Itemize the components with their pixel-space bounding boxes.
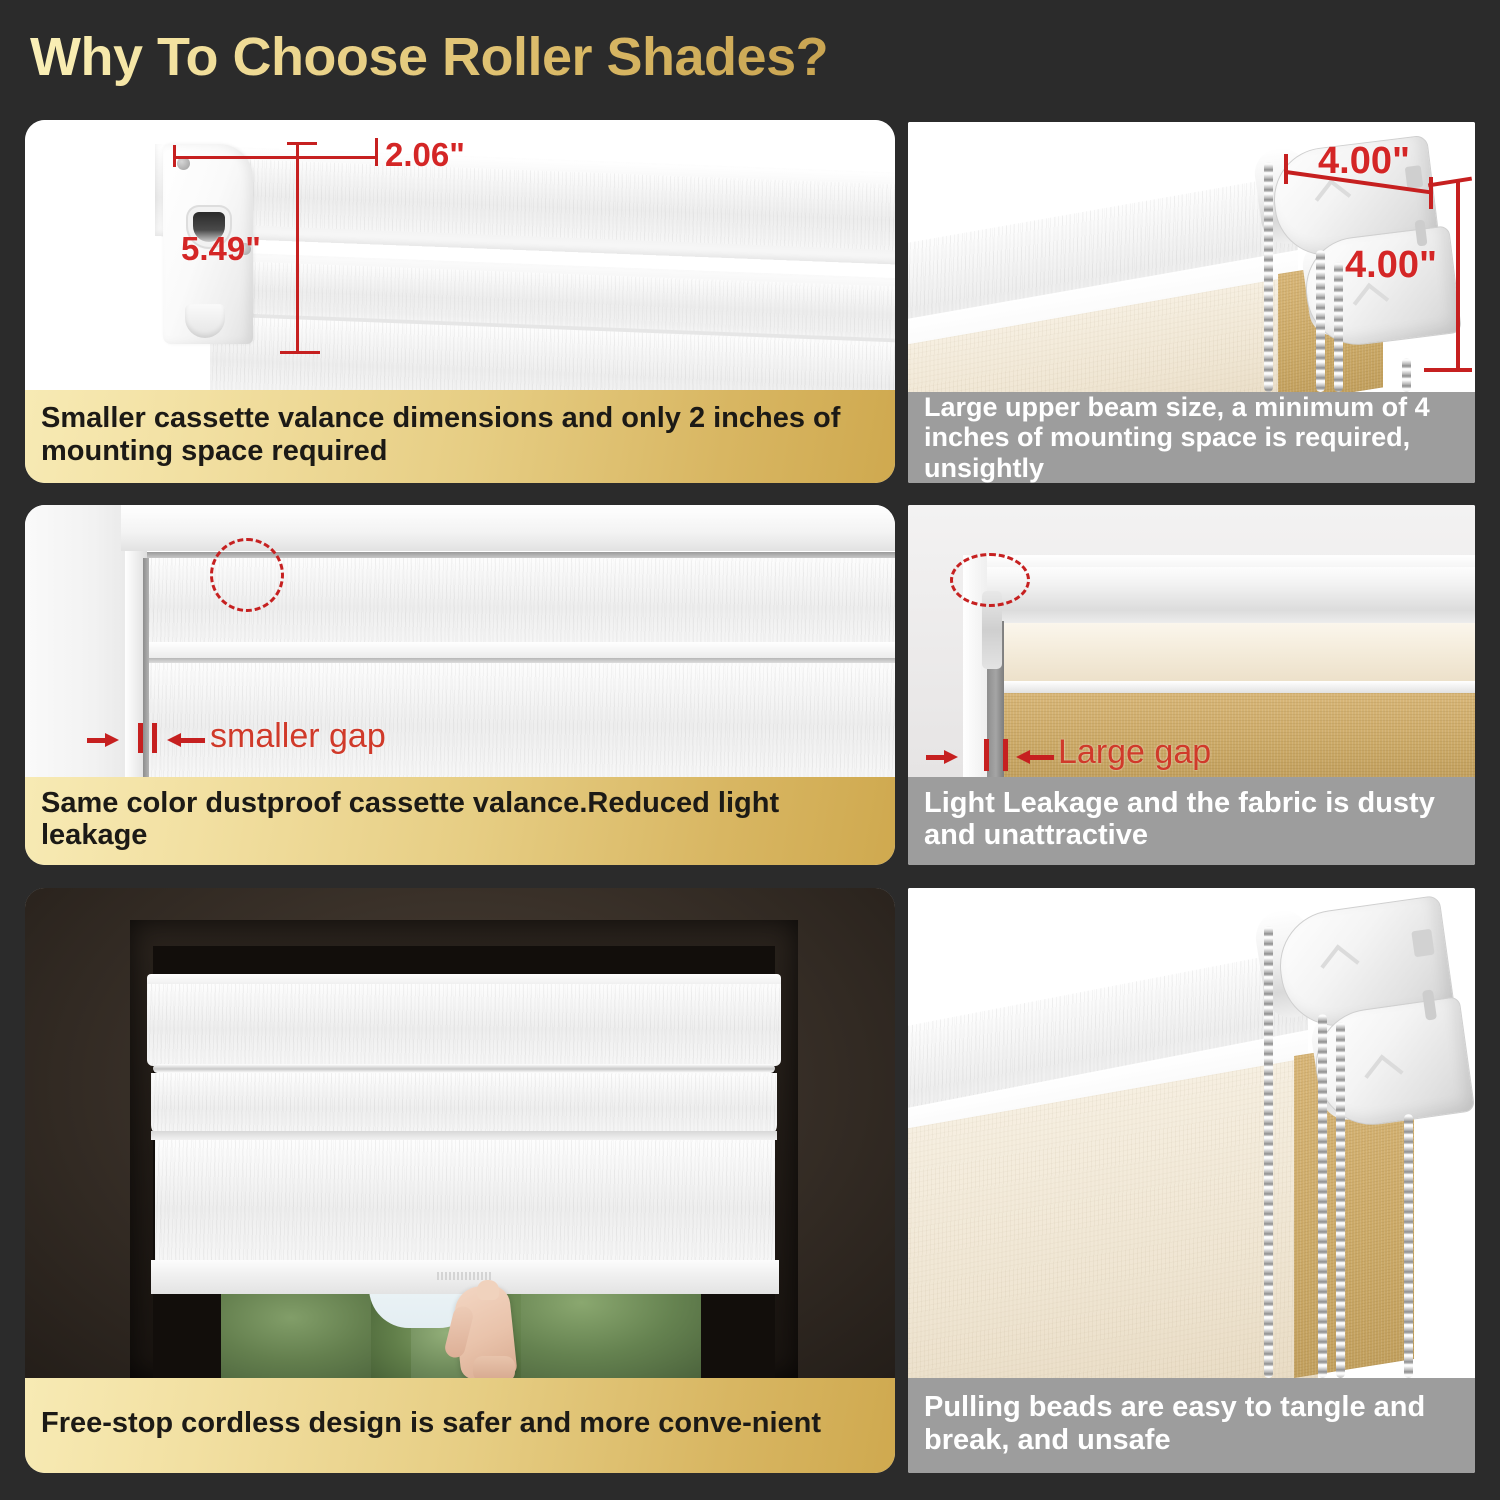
valance-lower-roll <box>151 1073 777 1137</box>
caption-top-left: Smaller cassette valance dimensions and … <box>25 390 895 483</box>
bead-chain-3 <box>1336 1022 1345 1378</box>
gap-highlight-ellipse <box>950 553 1030 607</box>
caption-middle-right-text: Light Leakage and the fabric is dusty an… <box>924 787 1459 852</box>
cassette-valance-front <box>147 984 781 1066</box>
caption-bottom-left-text: Free-stop cordless design is safer and m… <box>41 1407 821 1439</box>
caption-top-left-text: Smaller cassette valance dimensions and … <box>41 402 879 467</box>
gap-arrow-right <box>167 733 181 747</box>
valance-lower-roll-shadow <box>151 1131 777 1140</box>
panel-top-right: 4.00" 4.00" Large upper beam size, a min… <box>908 122 1475 483</box>
bead-chain-front <box>1264 162 1273 392</box>
main-shade-fabric <box>155 1140 775 1265</box>
bead-chain-1 <box>1264 926 1273 1378</box>
bead-chain-tail <box>1402 358 1411 392</box>
panel-middle-right-photo: Large gap <box>908 505 1475 777</box>
bottom-rail-logo <box>437 1272 491 1280</box>
gap-highlight-circle <box>210 538 284 612</box>
height-dimension-tick-top <box>287 142 317 145</box>
bracket-notch-1 <box>1411 929 1434 958</box>
height-dimension-line <box>296 142 299 354</box>
side-gap-dark <box>143 558 149 777</box>
width-dimension-tick-right <box>375 138 378 166</box>
cream-roll <box>996 623 1475 683</box>
large-gap-callout-label: Large gap <box>1058 733 1211 772</box>
bead-chain-4 <box>1404 1114 1413 1378</box>
gap-marker-bar-1 <box>138 723 143 753</box>
beam-height-tick-bottom <box>1424 368 1472 372</box>
width-dimension-label: 2.06" <box>385 136 465 174</box>
bead-chain-2 <box>1318 1014 1327 1378</box>
beam-height-dimension-line <box>1456 182 1460 370</box>
panel-middle-right: Large gap Light Leakage and the fabric i… <box>908 505 1475 865</box>
width-dimension-line <box>173 156 378 159</box>
cassette-valance-bottom-edge <box>147 642 895 658</box>
caption-middle-left: Same color dustproof cassette valance.Re… <box>25 777 895 865</box>
caption-bottom-right: Pulling beads are easy to tangle and bre… <box>908 1378 1475 1473</box>
panel-bottom-right-photo <box>908 888 1475 1378</box>
width-dimension-tick-left <box>173 145 176 167</box>
height-dimension-tick-bottom <box>280 351 320 354</box>
caption-top-right: Large upper beam size, a minimum of 4 in… <box>908 392 1475 483</box>
hand-forearm <box>473 1356 515 1378</box>
panel-bottom-left: Free-stop cordless design is safer and m… <box>25 888 895 1473</box>
gap-arrow-right-stem <box>181 738 205 743</box>
gap-marker-bar-2 <box>152 723 157 753</box>
panel-top-right-photo: 4.00" 4.00" <box>908 122 1475 392</box>
headrail-body <box>983 567 1475 629</box>
gap-callout-label: smaller gap <box>210 717 386 756</box>
beam-height-dimension-label: 4.00" <box>1345 244 1437 287</box>
infographic-root: Why To Choose Roller Shades? Why To Choo… <box>0 0 1500 1500</box>
bead-chain-back <box>1316 250 1325 392</box>
caption-bottom-right-text: Pulling beads are easy to tangle and bre… <box>924 1391 1459 1456</box>
large-gap-arrow-right-stem <box>1030 755 1054 760</box>
caption-bottom-left: Free-stop cordless design is safer and m… <box>25 1378 895 1473</box>
caption-top-right-text: Large upper beam size, a minimum of 4 in… <box>924 392 1459 483</box>
panel-top-left-photo: 2.06" 5.49" <box>25 120 895 390</box>
panel-top-left: 2.06" 5.49" Smaller cassette valance dim… <box>25 120 895 483</box>
gap-arrow-left-stem <box>87 738 109 743</box>
height-dimension-label: 5.49" <box>181 230 261 268</box>
caption-middle-right: Light Leakage and the fabric is dusty an… <box>908 777 1475 865</box>
caption-middle-left-text: Same color dustproof cassette valance.Re… <box>41 787 879 852</box>
cream-roll-edge <box>996 681 1475 693</box>
beam-width-tick-left <box>1284 154 1288 184</box>
panel-middle-left-photo: smaller gap <box>25 505 895 777</box>
panel-middle-left: smaller gap Same color dustproof cassett… <box>25 505 895 865</box>
hand-fingertip <box>477 1280 499 1300</box>
panel-bottom-right: Pulling beads are easy to tangle and bre… <box>908 888 1475 1473</box>
beam-width-dimension-label: 4.00" <box>1318 140 1410 183</box>
beam-height-tick-top <box>1428 177 1472 188</box>
large-gap-marker-bar-1 <box>984 739 989 771</box>
page-title: Why To Choose Roller Shades? <box>30 26 828 88</box>
bead-chain-loop <box>1334 262 1343 392</box>
large-gap-marker-bar-2 <box>1003 739 1008 771</box>
large-gap-arrow-left-stem <box>926 755 948 760</box>
panel-bottom-left-photo <box>25 888 895 1378</box>
cassette-valance-groove <box>153 1064 775 1073</box>
large-gap-arrow-right <box>1016 750 1030 764</box>
